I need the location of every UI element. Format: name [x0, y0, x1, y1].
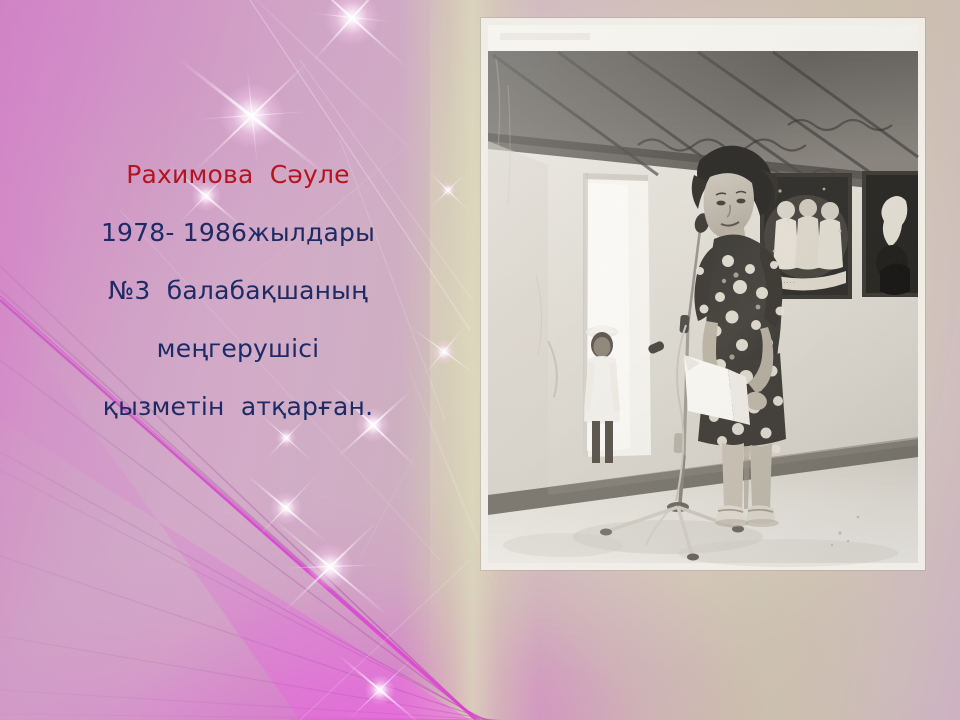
slide: Рахимова Сәуле 1978- 1986жылдары №3 бала… — [0, 0, 960, 720]
text-line-years: 1978- 1986жылдары — [28, 204, 448, 262]
text-line-role: меңгерушісі — [28, 320, 448, 378]
slide-text-block: Рахимова Сәуле 1978- 1986жылдары №3 бала… — [28, 146, 448, 436]
text-line-place: №3 балабақшаның — [28, 262, 448, 320]
photo-woman-speaking-at-microphone: Рахимова Сәуле — [481, 18, 925, 570]
text-line-name: Рахимова Сәуле — [28, 146, 448, 204]
text-line-sentence: қызметін атқарған. — [28, 378, 448, 436]
